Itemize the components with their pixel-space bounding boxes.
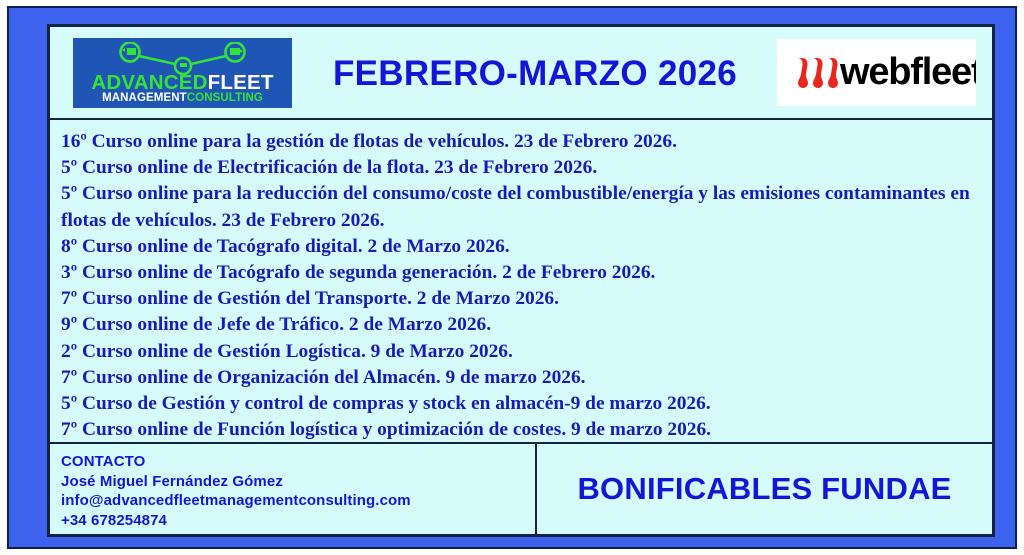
contact-block: CONTACTO José Miguel Fernández Gómez inf… bbox=[50, 444, 537, 534]
poster-root: ADVANCEDFLEET MANAGEMENTCONSULTING FEBRE… bbox=[0, 0, 1024, 555]
afmc-word-management: MANAGEMENT bbox=[102, 92, 187, 104]
afmc-word-consulting: CONSULTING bbox=[187, 92, 263, 104]
poster-header: ADVANCEDFLEET MANAGEMENTCONSULTING FEBRE… bbox=[50, 27, 992, 120]
course-item: 5º Curso online de Electrificación de la… bbox=[61, 155, 982, 181]
fundae-block: BONIFICABLES FUNDAE bbox=[537, 444, 992, 534]
afmc-wordmark: ADVANCEDFLEET bbox=[73, 72, 292, 93]
course-item: 7º Curso online de Gestión del Transport… bbox=[61, 286, 982, 312]
afmc-word-fleet: FLEET bbox=[208, 71, 274, 94]
course-item: 5º Curso de Gestión y control de compras… bbox=[61, 391, 982, 417]
webfleet-logo[interactable]: webfleet bbox=[777, 39, 976, 106]
webfleet-wordmark: webfleet bbox=[840, 51, 976, 93]
contact-phone[interactable]: +34 678254874 bbox=[61, 511, 535, 531]
course-list: 16º Curso online para la gestión de flot… bbox=[50, 120, 992, 442]
page-title: FEBRERO-MARZO 2026 bbox=[300, 54, 770, 94]
poster-footer: CONTACTO José Miguel Fernández Gómez inf… bbox=[50, 442, 992, 534]
webfleet-mark-icon bbox=[797, 56, 841, 89]
contact-name: José Miguel Fernández Gómez bbox=[61, 472, 535, 492]
afmc-word-advanced: ADVANCED bbox=[91, 71, 207, 94]
contact-heading: CONTACTO bbox=[61, 452, 535, 472]
course-item: 3º Curso online de Tacógrafo de segunda … bbox=[61, 260, 982, 286]
course-item: 5º Curso online para la reducción del co… bbox=[61, 181, 982, 233]
course-item: 2º Curso online de Gestión Logística. 9 … bbox=[61, 339, 982, 365]
advanced-fleet-management-consulting-logo[interactable]: ADVANCEDFLEET MANAGEMENTCONSULTING bbox=[73, 38, 292, 108]
poster-inner-panel: ADVANCEDFLEET MANAGEMENTCONSULTING FEBRE… bbox=[47, 24, 995, 537]
fundae-label: BONIFICABLES FUNDAE bbox=[577, 471, 951, 507]
course-item: 16º Curso online para la gestión de flot… bbox=[61, 129, 982, 155]
course-item: 7º Curso online de Función logística y o… bbox=[61, 417, 982, 443]
poster-outer-frame: ADVANCEDFLEET MANAGEMENTCONSULTING FEBRE… bbox=[7, 6, 1017, 549]
course-item: 7º Curso online de Organización del Alma… bbox=[61, 365, 982, 391]
afmc-subwordmark: MANAGEMENTCONSULTING bbox=[73, 92, 292, 104]
course-item: 8º Curso online de Tacógrafo digital. 2 … bbox=[61, 234, 982, 260]
course-item: 9º Curso online de Jefe de Tráfico. 2 de… bbox=[61, 312, 982, 338]
contact-email[interactable]: info@advancedfleetmanagementconsulting.c… bbox=[61, 491, 535, 511]
